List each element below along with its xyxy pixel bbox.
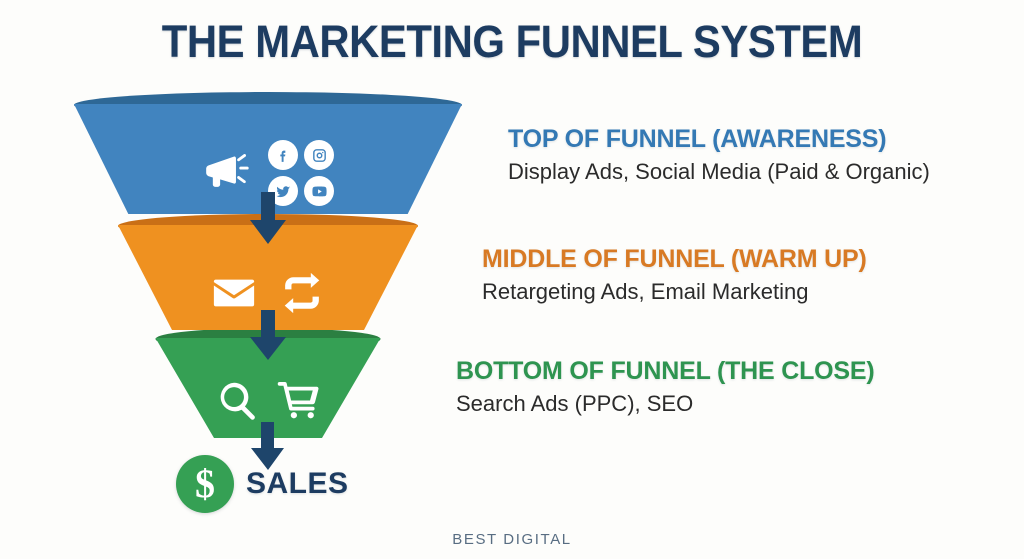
youtube-icon[interactable] (304, 176, 334, 206)
sales-label: SALES (246, 467, 349, 501)
legend-stage-top-subtitle: Display Ads, Social Media (Paid & Organi… (508, 159, 930, 185)
legend-stage-middle-heading: MIDDLE OF FUNNEL (WARM UP) (482, 245, 867, 274)
dollar-circle-icon: $ (176, 455, 234, 513)
legend-stage-bottom: BOTTOM OF FUNNEL (THE CLOSE) Search Ads … (456, 357, 874, 417)
legend-stage-bottom-heading: BOTTOM OF FUNNEL (THE CLOSE) (456, 357, 874, 386)
legend-stage-top: TOP OF FUNNEL (AWARENESS) Display Ads, S… (508, 125, 930, 185)
legend-stage-middle: MIDDLE OF FUNNEL (WARM UP) Retargeting A… (482, 245, 867, 305)
legend-stage-middle-subtitle: Retargeting Ads, Email Marketing (482, 279, 867, 305)
magnifier-icon (215, 378, 259, 427)
sales-outcome[interactable]: $ SALES (176, 455, 349, 513)
shopping-cart-icon (277, 378, 321, 427)
legend-stage-bottom-subtitle: Search Ads (PPC), SEO (456, 391, 874, 417)
arrow-top-to-middle-icon (244, 192, 292, 248)
facebook-icon[interactable] (268, 140, 298, 170)
funnel-stage-bottom-icons (215, 378, 321, 427)
page-title: THE MARKETING FUNNEL SYSTEM (36, 16, 988, 68)
dollar-symbol: $ (195, 464, 215, 504)
instagram-icon[interactable] (304, 140, 334, 170)
legend-stage-top-heading: TOP OF FUNNEL (AWARENESS) (508, 125, 930, 154)
footer-brand: BEST DIGITAL (0, 531, 1024, 548)
arrow-middle-to-bottom-icon (245, 310, 291, 364)
